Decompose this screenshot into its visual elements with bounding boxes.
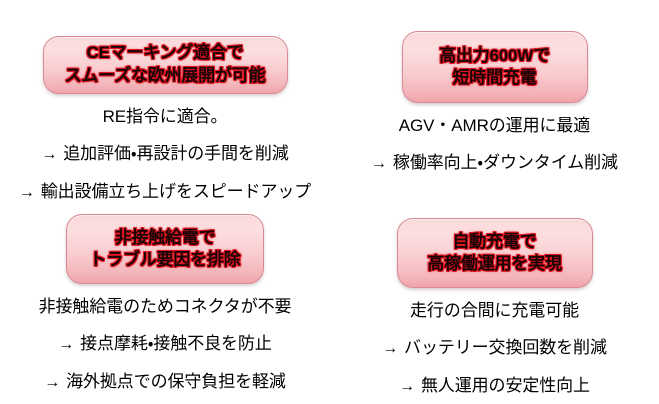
benefit-block-ce-marking: CEマーキング適合で スムーズな欧州展開が可能 RE指令に適合。 → 追加評価・… xyxy=(0,0,330,202)
badge-contactless-power: 非接触給電で トラブル要因を排除 xyxy=(66,214,264,284)
arrow-right-icon: → xyxy=(382,341,398,357)
arrow-right-icon: → xyxy=(44,375,60,391)
arrow-right-icon: → xyxy=(41,147,57,163)
benefit-body-high-power-600w: AGV・AMRの運用に最適 → 稼働率向上・ダウンタイム削減 xyxy=(330,103,659,174)
bullet-label: バッテリー交換回数を削減 xyxy=(404,338,607,358)
arrow-right-icon: → xyxy=(371,156,387,172)
bullet-label: 海外拠点での保守負担を軽減 xyxy=(66,372,286,392)
bullet-label: 無人運用の安定性向上 xyxy=(421,376,590,396)
lead-text: 走行の合間に充電可能 xyxy=(410,301,579,321)
benefits-grid: CEマーキング適合で スムーズな欧州展開が可能 RE指令に適合。 → 追加評価・… xyxy=(0,0,659,404)
badge-line: 非接触給電で xyxy=(115,227,216,249)
bullet-list: → 追加評価・再設計の手間を削減 → 輸出設備立ち上げをスピードアップ xyxy=(0,127,330,202)
lead-text: RE指令に適合。 xyxy=(103,107,228,127)
benefit-block-auto-charging: 自動充電で 高稼働運用を実現 走行の合間に充電可能 → バッテリー交換回数を削減… xyxy=(330,202,659,404)
badge-line: 短時間充電 xyxy=(453,67,537,89)
benefits-slide: CEマーキング適合で スムーズな欧州展開が可能 RE指令に適合。 → 追加評価・… xyxy=(0,0,659,404)
bullet-label: 輸出設備立ち上げをスピードアップ xyxy=(41,182,311,202)
bullet-list: → 接点摩耗・接触不良を防止 → 海外拠点での保守負担を軽減 xyxy=(0,317,330,392)
badge-auto-charging: 自動充電で 高稼働運用を実現 xyxy=(397,218,593,288)
arrow-right-icon: → xyxy=(19,185,35,201)
bullet-item: → 海外拠点での保守負担を軽減 xyxy=(44,372,286,392)
badge-line: 自動充電で xyxy=(453,231,537,253)
benefit-body-contactless-power: 非接触給電のためコネクタが不要 → 接点摩耗・接触不良を防止 → 海外拠点での保… xyxy=(0,284,330,392)
benefit-block-high-power-600w: 高出力600Wで 短時間充電 AGV・AMRの運用に最適 → 稼働率向上・ダウン… xyxy=(330,0,659,202)
badge-line: トラブル要因を排除 xyxy=(89,249,240,271)
badge-ce-marking: CEマーキング適合で スムーズな欧州展開が可能 xyxy=(43,36,288,94)
arrow-right-icon: → xyxy=(399,379,415,395)
bullet-item: → バッテリー交換回数を削減 xyxy=(382,338,607,358)
benefit-body-auto-charging: 走行の合間に充電可能 → バッテリー交換回数を削減 → 無人運用の安定性向上 xyxy=(330,288,659,396)
bullet-list: → バッテリー交換回数を削減 → 無人運用の安定性向上 xyxy=(330,321,659,396)
bullet-label: 接点摩耗・接触不良を防止 xyxy=(80,334,272,354)
badge-line: 高出力600Wで xyxy=(439,45,550,67)
bullet-label: 追加評価・再設計の手間を削減 xyxy=(63,144,288,164)
bullet-item: → 稼働率向上・ダウンタイム削減 xyxy=(371,153,618,173)
lead-text: 非接触給電のためコネクタが不要 xyxy=(39,297,292,317)
badge-line: スムーズな欧州展開が可能 xyxy=(65,65,266,87)
bullet-item: → 追加評価・再設計の手間を削減 xyxy=(41,144,288,164)
badge-line: 高稼働運用を実現 xyxy=(427,253,561,275)
benefit-body-ce-marking: RE指令に適合。 → 追加評価・再設計の手間を削減 → 輸出設備立ち上げをスピー… xyxy=(0,94,330,202)
badge-line: CEマーキング適合で xyxy=(86,42,243,64)
bullet-list: → 稼働率向上・ダウンタイム削減 xyxy=(330,136,659,173)
bullet-item: → 無人運用の安定性向上 xyxy=(399,376,590,396)
lead-text: AGV・AMRの運用に最適 xyxy=(399,116,590,136)
badge-high-power-600w: 高出力600Wで 短時間充電 xyxy=(402,31,588,103)
benefit-block-contactless-power: 非接触給電で トラブル要因を排除 非接触給電のためコネクタが不要 → 接点摩耗・… xyxy=(0,202,330,404)
bullet-label: 稼働率向上・ダウンタイム削減 xyxy=(393,153,618,173)
bullet-item: → 輸出設備立ち上げをスピードアップ xyxy=(19,182,311,202)
bullet-item: → 接点摩耗・接触不良を防止 xyxy=(58,334,272,354)
arrow-right-icon: → xyxy=(58,337,74,353)
